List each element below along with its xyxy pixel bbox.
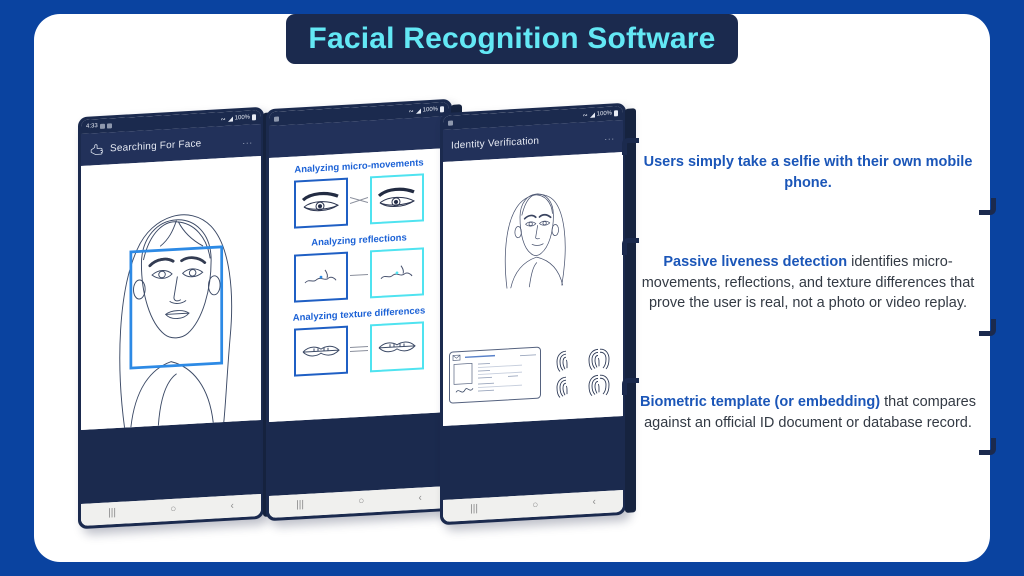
slide-canvas: Facial Recognition Software 4:33 ∾ 100% [0,0,1024,576]
comparison-link-lines [350,264,368,285]
face-detection-box [131,247,222,368]
phone-mockup-liveness: ∾ 100% Analyzing micro-movements [266,99,452,521]
status-bar-right: ∾ 100% [221,114,256,123]
fingerprint-icon-3 [557,377,567,398]
signal-icon [228,116,233,121]
notification-icon [100,123,105,128]
battery-icon [440,106,444,112]
eye-sketch-cyan [370,173,424,224]
signal-icon [416,108,421,113]
notification-icon-2 [107,123,112,128]
recents-button[interactable]: ||| [108,508,116,518]
comparison-pair [275,246,443,303]
page-title: Facial Recognition Software [308,22,715,56]
phone-screen: 4:33 ∾ 100% Searching For F [81,110,261,526]
lips-sketch-cyan [370,321,424,372]
phone-mockups-group: 4:33 ∾ 100% Searching For F [0,0,640,576]
fingerprint-icon-4 [589,375,609,396]
phone-footer-panel [443,416,623,500]
portrait-sketch [443,152,623,292]
analysis-section-reflections: Analyzing reflections [275,230,443,303]
battery-icon [252,114,256,120]
fingerprint-icon-1 [557,351,567,372]
back-button[interactable]: ‹ [593,497,596,507]
id-document-card [449,347,541,404]
status-bar-right: ∾ 100% [409,106,444,115]
recents-button[interactable]: ||| [296,500,304,510]
status-time: 4:33 [86,123,98,130]
bracket-top-left-icon [622,138,639,155]
phone-mockup-identity: ∾ 100% Identity Verification ... [440,103,626,525]
bracket-top-left-icon [622,238,639,255]
back-button[interactable]: ‹ [231,501,234,511]
app-title: Identity Verification [451,135,539,151]
bracket-bottom-right-icon [979,438,996,455]
bracket-bottom-right-icon [979,319,996,336]
note-lead: Users simply take a selfie with their ow… [644,154,973,191]
status-bar-left [274,116,279,121]
bracket-bottom-right-icon [979,198,996,215]
signal-icon [590,112,595,117]
recents-button[interactable]: ||| [470,504,478,514]
analysis-section-texture: Analyzing texture differences [275,304,443,377]
battery-icon [614,110,618,116]
back-button[interactable]: ‹ [419,493,422,503]
lips-sketch-blue [294,326,348,377]
note-lead: Passive liveness detection [663,254,847,270]
note-selfie: Users simply take a selfie with their ow… [632,152,984,193]
note-text: Passive liveness detection identifies mi… [632,252,984,314]
comparison-link-lines [350,338,368,359]
note-text: Users simply take a selfie with their ow… [632,152,984,193]
hand-gesture-icon [89,142,104,156]
phone-footer-panel [269,412,449,496]
note-lead: Biometric template (or embedding) [640,394,880,410]
fingerprint-icon-2 [589,349,609,370]
comparison-pair [275,320,443,377]
phone-screen: ∾ 100% Analyzing micro-movements [269,102,449,518]
battery-percent: 100% [597,111,612,118]
note-liveness: Passive liveness detection identifies mi… [632,252,984,314]
home-button[interactable]: ○ [358,497,364,507]
overflow-menu-icon[interactable]: ... [604,131,615,142]
battery-percent: 100% [235,115,250,122]
eye-sketch-blue [294,178,348,229]
wifi-icon: ∾ [221,115,226,122]
notification-icon [448,120,453,125]
analysis-section-micro-movements: Analyzing micro-movements [275,156,443,229]
phone-footer-panel [81,420,261,504]
phone-mockup-searching: 4:33 ∾ 100% Searching For F [78,107,264,529]
status-bar-left: 4:33 [86,122,112,129]
home-button[interactable]: ○ [170,505,176,515]
reflection-sketch-blue [294,252,348,303]
app-title: Searching For Face [110,138,201,154]
note-text: Biometric template (or embedding) that c… [632,392,984,433]
notification-icon [274,116,279,121]
portrait-and-id-illustration [443,152,623,426]
wifi-icon: ∾ [583,111,588,118]
wifi-icon: ∾ [409,107,414,114]
bracket-top-left-icon [622,378,639,395]
reflection-sketch-cyan [370,247,424,298]
home-button[interactable]: ○ [532,501,538,511]
battery-percent: 100% [423,107,438,114]
feature-notes-group: Users simply take a selfie with their ow… [624,0,996,576]
status-bar-left [448,120,453,125]
note-template: Biometric template (or embedding) that c… [632,392,984,433]
comparison-pair [275,172,443,229]
fingerprint-icons-group [553,344,615,399]
phone-screen: ∾ 100% Identity Verification ... [443,106,623,522]
status-bar-right: ∾ 100% [583,110,618,119]
comparison-link-lines [350,190,368,211]
slide-title-banner: Facial Recognition Software [286,14,738,64]
overflow-menu-icon[interactable]: ... [242,135,253,146]
face-scan-illustration [81,156,261,430]
liveness-analysis-list: Analyzing micro-movements [269,148,449,422]
